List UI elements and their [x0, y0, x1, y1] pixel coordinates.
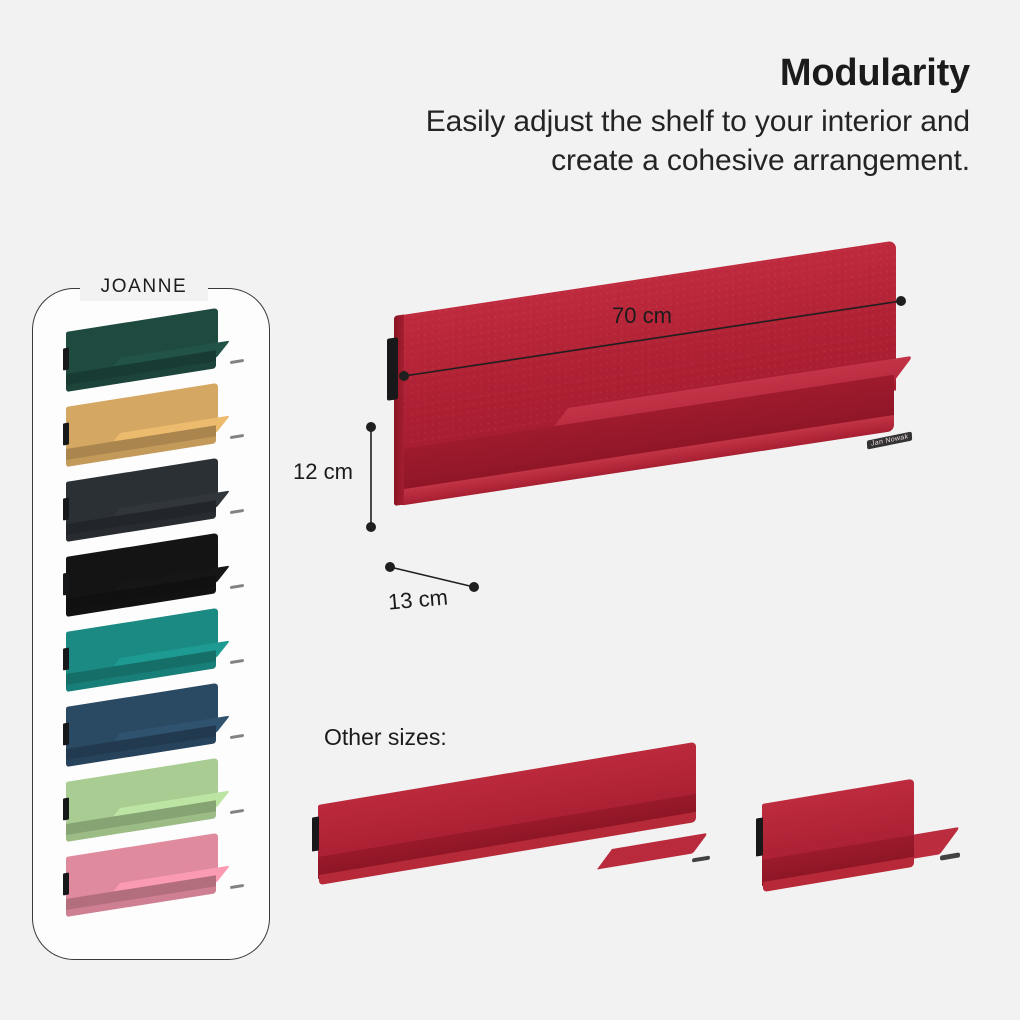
subtitle-line-2: create a cohesive arrangement.: [250, 141, 970, 180]
brand-mark: Jan Nowak: [866, 431, 912, 449]
long-brand-tip: [692, 855, 710, 862]
color-swatch-black[interactable]: [60, 555, 246, 623]
mini-mounting-bracket: [63, 498, 69, 521]
mini-brand-tip: [230, 509, 244, 514]
long-shelf-surface: [597, 833, 708, 870]
hero-shelf-red: Jan Nowak: [388, 300, 918, 570]
headline-subtitle: Easily adjust the shelf to your interior…: [250, 102, 970, 180]
page-title: Modularity: [250, 52, 970, 96]
color-variants-panel: JOANNE: [32, 288, 270, 960]
mini-shelf: [60, 480, 246, 548]
mini-brand-tip: [230, 884, 244, 889]
mini-mounting-bracket: [63, 798, 69, 821]
headline-block: Modularity Easily adjust the shelf to yo…: [250, 52, 970, 180]
infographic-canvas: Modularity Easily adjust the shelf to yo…: [0, 0, 1020, 1020]
mini-mounting-bracket: [63, 648, 69, 671]
other-sizes-label: Other sizes:: [324, 724, 447, 751]
mini-shelf: [60, 405, 246, 473]
mini-mounting-bracket: [63, 873, 69, 896]
mini-shelf: [60, 555, 246, 623]
mini-shelf: [60, 855, 246, 923]
mini-brand-tip: [230, 584, 244, 589]
mini-mounting-bracket: [63, 723, 69, 746]
mini-brand-tip: [230, 659, 244, 664]
other-size-small-shelf: [754, 796, 972, 916]
hero-mounting-bracket: [387, 337, 398, 401]
mini-shelf: [60, 630, 246, 698]
subtitle-line-1: Easily adjust the shelf to your interior…: [250, 102, 970, 141]
mini-brand-tip: [230, 809, 244, 814]
color-swatch-anthracite[interactable]: [60, 480, 246, 548]
other-size-long-shelf: [312, 795, 712, 915]
dimension-label-height: 12 cm: [293, 459, 353, 485]
mini-mounting-bracket: [63, 573, 69, 596]
mini-brand-tip: [230, 434, 244, 439]
color-swatch-pink[interactable]: [60, 855, 246, 923]
mini-shelf: [60, 780, 246, 848]
mini-brand-tip: [230, 359, 244, 364]
mini-shelf: [60, 330, 246, 398]
mini-mounting-bracket: [63, 348, 69, 371]
dimension-label-depth: 13 cm: [387, 584, 449, 615]
small-mounting-bracket: [756, 817, 763, 856]
color-swatch-light-green[interactable]: [60, 780, 246, 848]
color-swatch-teal[interactable]: [60, 630, 246, 698]
color-swatch-navy[interactable]: [60, 705, 246, 773]
small-brand-tip: [940, 852, 960, 860]
color-swatch-list: [32, 330, 270, 950]
mini-mounting-bracket: [63, 423, 69, 446]
panel-legend-joanne: JOANNE: [80, 273, 208, 301]
color-swatch-dark-green[interactable]: [60, 330, 246, 398]
color-swatch-gold[interactable]: [60, 405, 246, 473]
dimension-label-width: 70 cm: [612, 303, 672, 329]
mini-brand-tip: [230, 734, 244, 739]
long-mounting-bracket: [312, 816, 319, 851]
mini-shelf: [60, 705, 246, 773]
